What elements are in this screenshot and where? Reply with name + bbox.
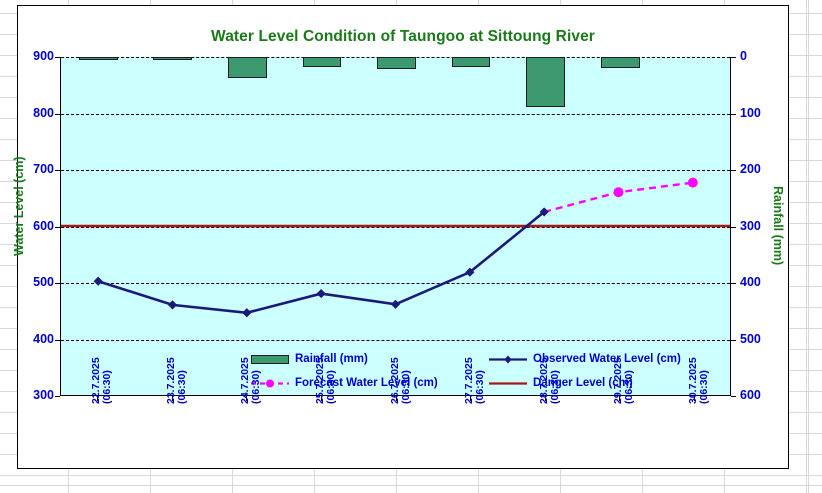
plot-area[interactable]: Rainfall (mm) Observed Water Level (cm) … [60, 57, 731, 396]
y-right-tick-label: 400 [740, 275, 786, 289]
y-left-tick-label: 700 [8, 162, 54, 176]
series-overlay [61, 57, 730, 395]
chart-legend: Rainfall (mm) Observed Water Level (cm) … [211, 349, 641, 399]
y-right-tick-mark [731, 170, 736, 171]
y-right-tick-mark [731, 57, 736, 58]
x-axis-label: 26.7.2025(06:30) [390, 357, 412, 404]
y-right-tick-label: 200 [740, 162, 786, 176]
y-right-tick-mark [731, 227, 736, 228]
x-axis-label: 28.7.2025(06:30) [539, 357, 561, 404]
y-right-tick-mark [731, 283, 736, 284]
x-axis-label: 25.7.2025(06:30) [315, 357, 337, 404]
x-axis-label: 22.7.2025(06:30) [91, 357, 113, 404]
x-axis-label: 29.7.2025(06:30) [613, 357, 635, 404]
y-right-tick-mark [731, 396, 736, 397]
x-axis-label: 27.7.2025(06:30) [464, 357, 486, 404]
y-right-tick-label: 300 [740, 219, 786, 233]
legend-item-observed: Observed Water Level (cm) [489, 353, 681, 365]
y-left-tick-label: 800 [8, 106, 54, 120]
y-right-tick-mark [731, 114, 736, 115]
x-axis-label: 30.7.2025(06:30) [688, 357, 710, 404]
y-right-tick-label: 500 [740, 332, 786, 346]
x-axis-label: 24.7.2025(06:30) [240, 357, 262, 404]
y-left-tick-label: 900 [8, 49, 54, 63]
x-axis-label: 23.7.2025(06:30) [166, 357, 188, 404]
y-left-tick-label: 500 [8, 275, 54, 289]
chart-title: Water Level Condition of Taungoo at Sitt… [18, 28, 788, 46]
y-left-tick-label: 600 [8, 219, 54, 233]
legend-item-rainfall: Rainfall (mm) [251, 353, 368, 365]
y-left-tick-label: 400 [8, 332, 54, 346]
y-right-tick-label: 600 [740, 388, 786, 402]
y-left-tick-label: 300 [8, 388, 54, 402]
danger-line-swatch-icon [489, 378, 527, 389]
y-right-tick-label: 0 [740, 49, 786, 63]
y-right-tick-mark [731, 340, 736, 341]
y-left-tick-mark [55, 396, 60, 397]
observed-line-swatch-icon [489, 354, 527, 365]
chart-object[interactable]: Water Level Condition of Taungoo at Sitt… [17, 5, 789, 469]
y-right-tick-label: 100 [740, 106, 786, 120]
